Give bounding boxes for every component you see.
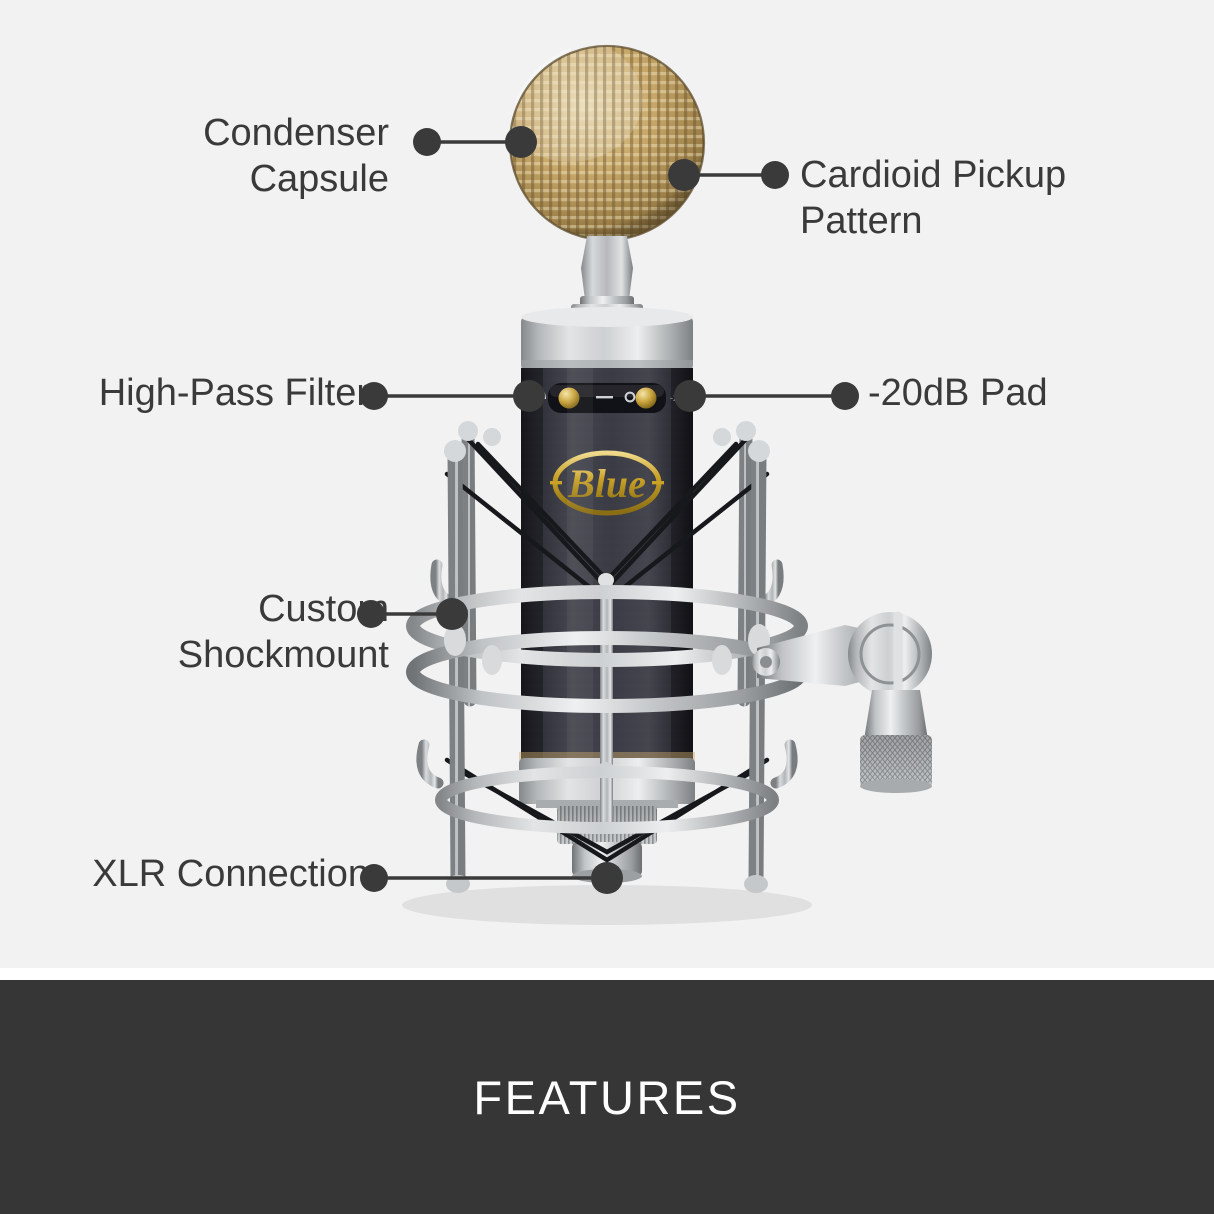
callout-label-pad-20db: -20dB Pad xyxy=(868,370,1198,416)
callout-label-xlr-connection: XLR Connection xyxy=(0,851,369,897)
mount-stem xyxy=(864,690,928,740)
features-banner: FEATURES xyxy=(0,980,1214,1214)
flat-marking xyxy=(596,396,613,398)
pad-toggle xyxy=(636,388,657,409)
capsule-neck xyxy=(571,236,643,318)
callout-label-custom-shockmount: Custom Shockmount xyxy=(0,586,389,679)
features-banner-label: FEATURES xyxy=(473,1070,740,1125)
condenser-capsule-ball xyxy=(498,38,709,245)
callout-label-high-pass-filter: High-Pass Filter xyxy=(0,370,369,416)
callout-label-cardioid-pickup-pattern: Cardioid Pickup Pattern xyxy=(800,152,1140,245)
product-feature-diagram: -20 dB Blue xyxy=(0,0,1214,1214)
top-collar xyxy=(521,307,693,370)
callout-label-condenser-capsule: Condenser Capsule xyxy=(0,110,389,203)
panel-divider xyxy=(0,968,1214,980)
